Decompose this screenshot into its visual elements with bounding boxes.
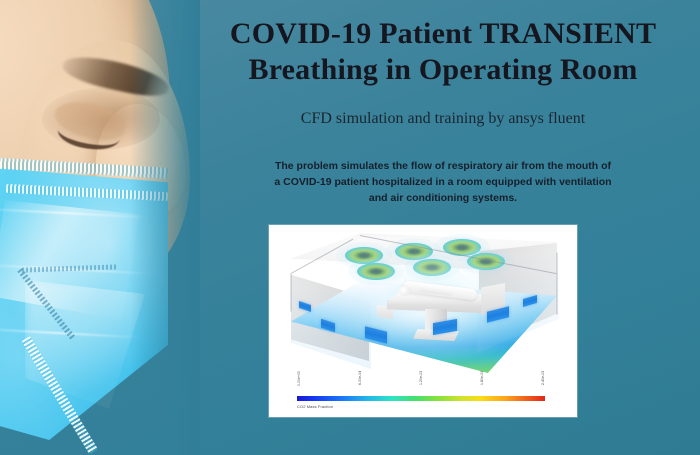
legend-tick: 6.00e-04	[358, 371, 368, 395]
room-edge	[291, 274, 292, 312]
page-subtitle: CFD simulation and training by ansys flu…	[186, 110, 700, 128]
legend-tick: 1.20e-03	[419, 371, 429, 395]
title-line-1: COVID-19 Patient TRANSIENT	[186, 16, 700, 52]
title-line-2: Breathing in Operating Room	[186, 52, 700, 88]
page-title: COVID-19 Patient TRANSIENT Breathing in …	[186, 16, 700, 88]
legend-tick: 2.40e-03	[541, 371, 551, 395]
cfd-3d-scene	[269, 225, 577, 373]
legend-title: CO2 Mass Fraction	[297, 404, 333, 409]
legend-tick: 1.80e-03	[480, 371, 490, 395]
poster-root: COVID-19 Patient TRANSIENT Breathing in …	[0, 0, 700, 455]
content-column: COVID-19 Patient TRANSIENT Breathing in …	[186, 0, 700, 455]
legend-tick: 0.00e+00	[297, 371, 307, 395]
cfd-color-legend: 0.00e+00 6.00e-04 1.20e-03 1.80e-03 2.40…	[297, 371, 549, 415]
patient-head	[399, 286, 411, 296]
operating-room-box	[291, 233, 557, 369]
description-line-2: a COVID-19 patient hospitalized in a roo…	[213, 174, 673, 190]
masked-face-photo	[0, 0, 200, 455]
cfd-result-panel: 0.00e+00 6.00e-04 1.20e-03 1.80e-03 2.40…	[269, 225, 577, 417]
description-line-3: and air conditioning systems.	[213, 190, 673, 206]
description-text: The problem simulates the flow of respir…	[213, 158, 673, 206]
legend-colorbar	[297, 396, 545, 401]
description-line-1: The problem simulates the flow of respir…	[213, 158, 673, 174]
room-edge	[557, 253, 558, 315]
surgical-mask	[0, 160, 170, 455]
legend-tick-labels: 0.00e+00 6.00e-04 1.20e-03 1.80e-03 2.40…	[297, 371, 549, 395]
